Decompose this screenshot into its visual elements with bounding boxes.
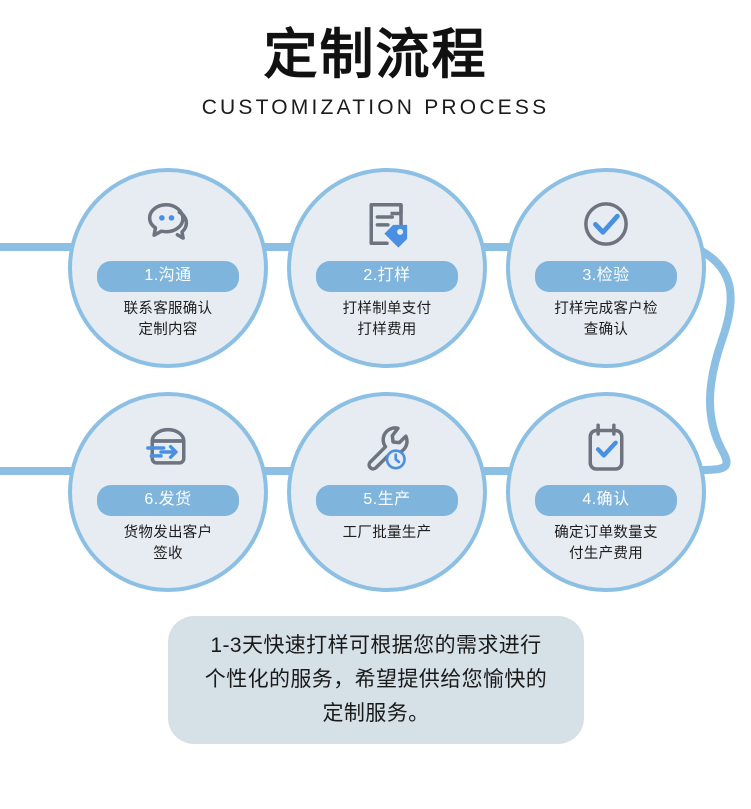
step-desc-1: 联系客服确认 定制内容 bbox=[88, 299, 248, 341]
chat-bubble-icon bbox=[140, 196, 196, 252]
step-pill-4: 4.确认 bbox=[535, 485, 677, 516]
check-circle-icon bbox=[578, 196, 634, 252]
footer-note-box: 1-3天快速打样可根据您的需求进行个性化的服务，希望提供给您愉快的定制服务。 bbox=[168, 616, 584, 744]
checkmark-stroke bbox=[596, 216, 618, 232]
checkmark-stroke bbox=[598, 443, 616, 456]
step-desc-6: 货物发出客户 签收 bbox=[88, 523, 248, 565]
step-pill-3: 3.检验 bbox=[535, 261, 677, 292]
header: 定制流程 CUSTOMIZATION PROCESS bbox=[0, 0, 751, 120]
step-pill-5: 5.生产 bbox=[316, 485, 458, 516]
step-pill-6: 6.发货 bbox=[97, 485, 239, 516]
footer-note-text: 1-3天快速打样可根据您的需求进行个性化的服务，希望提供给您愉快的定制服务。 bbox=[204, 629, 548, 731]
wrench-clock-icon bbox=[359, 420, 415, 476]
process-step-5[interactable]: 5.生产 工厂批量生产 bbox=[287, 392, 487, 592]
page-title: 定制流程 bbox=[0, 0, 751, 86]
process-step-3[interactable]: 3.检验 打样完成客户检 查确认 bbox=[506, 168, 706, 368]
chat-dot-right bbox=[169, 215, 175, 221]
document-tag-icon bbox=[359, 196, 415, 252]
process-step-4[interactable]: 4.确认 确定订单数量支 付生产费用 bbox=[506, 392, 706, 592]
chat-dot-left bbox=[159, 215, 165, 221]
step-desc-3: 打样完成客户检 查确认 bbox=[526, 299, 686, 341]
calendar-check-icon bbox=[578, 420, 634, 476]
step-pill-2: 2.打样 bbox=[316, 261, 458, 292]
shipping-box-icon bbox=[140, 420, 196, 476]
step-desc-4: 确定订单数量支 付生产费用 bbox=[526, 523, 686, 565]
process-step-6[interactable]: 6.发货 货物发出客户 签收 bbox=[68, 392, 268, 592]
process-step-1[interactable]: 1.沟通 联系客服确认 定制内容 bbox=[68, 168, 268, 368]
customization-process-infographic: 定制流程 CUSTOMIZATION PROCESS 1.沟通 联系客服确认 定… bbox=[0, 0, 751, 809]
step-pill-1: 1.沟通 bbox=[97, 261, 239, 292]
step-desc-5: 工厂批量生产 bbox=[307, 523, 467, 544]
page-subtitle: CUSTOMIZATION PROCESS bbox=[0, 86, 751, 120]
process-step-2[interactable]: 2.打样 打样制单支付 打样费用 bbox=[287, 168, 487, 368]
step-desc-2: 打样制单支付 打样费用 bbox=[307, 299, 467, 341]
